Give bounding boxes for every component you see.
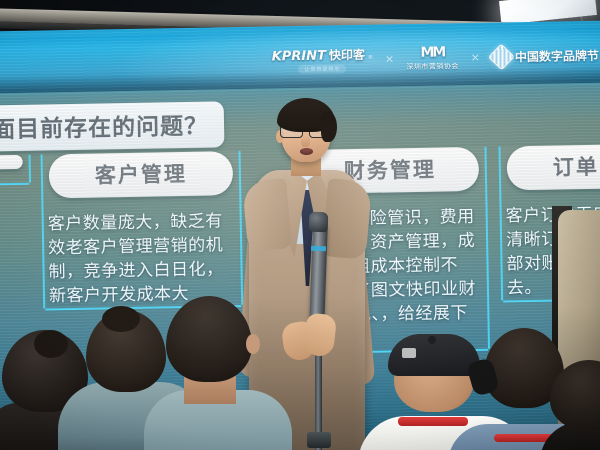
registered-mark-icon: ® [368,54,373,60]
card-order-heading: 订单 [506,144,600,190]
china-digital-brand-festival-logo: 中国数字品牌节 [492,45,599,66]
presenter-nose [301,136,310,147]
card-customer-heading-text: 客户管理 [95,162,187,188]
audience-ear [246,334,260,354]
page-title: 面目前存在的问题？ [0,101,224,151]
logo-separator-icon: × [469,50,482,63]
logo-separator-icon: × [383,52,396,65]
association-glyph-icon: MM [420,44,444,60]
card-left-edge [0,155,31,184]
audience-member-3 [150,292,274,410]
card-underline [0,183,29,186]
presenter-mouth [300,148,313,155]
kprint-latin-mark: KPRINT [272,48,326,64]
microphone-stand-base [307,432,331,448]
slide-title-text: 面目前存在的问题？ [0,114,208,144]
cap-logo-icon [402,348,416,358]
kprint-cn-mark: 快印客 [329,45,365,63]
presenter-shoulder-right [322,178,373,260]
conference-stage-photo: KPRINT 快印客 ® 让营销更精彩 × MM 深圳市营销协会 × [0,0,600,450]
card-customer-heading: 客户管理 [49,151,234,198]
cap-button-icon [428,336,436,344]
audience-member-6 [548,364,600,450]
festival-name: 中国数字品牌节 [515,46,599,64]
card-order-heading-text: 订单 [553,155,599,180]
card-left-edge-heading [0,155,23,170]
festival-emblem-icon [488,43,515,70]
card-customer-management: 客户管理 客户数量庞大，缺乏有效老客户管理营销的机制，竞争进入白日化，新客户开发… [41,151,244,308]
kprint-logo: KPRINT 快印客 ® 让营销更精彩 [272,45,374,74]
presenter-shoulder-left [242,178,292,252]
audience-head [166,296,252,382]
shenzhen-marketing-association-logo: MM 深圳市营销协会 [406,44,459,72]
presenter-hair-side [321,112,337,142]
microphone-indicator [311,246,326,252]
audience-hair-bun [102,306,140,332]
microphone-head [309,212,329,233]
audience-head [550,360,600,430]
